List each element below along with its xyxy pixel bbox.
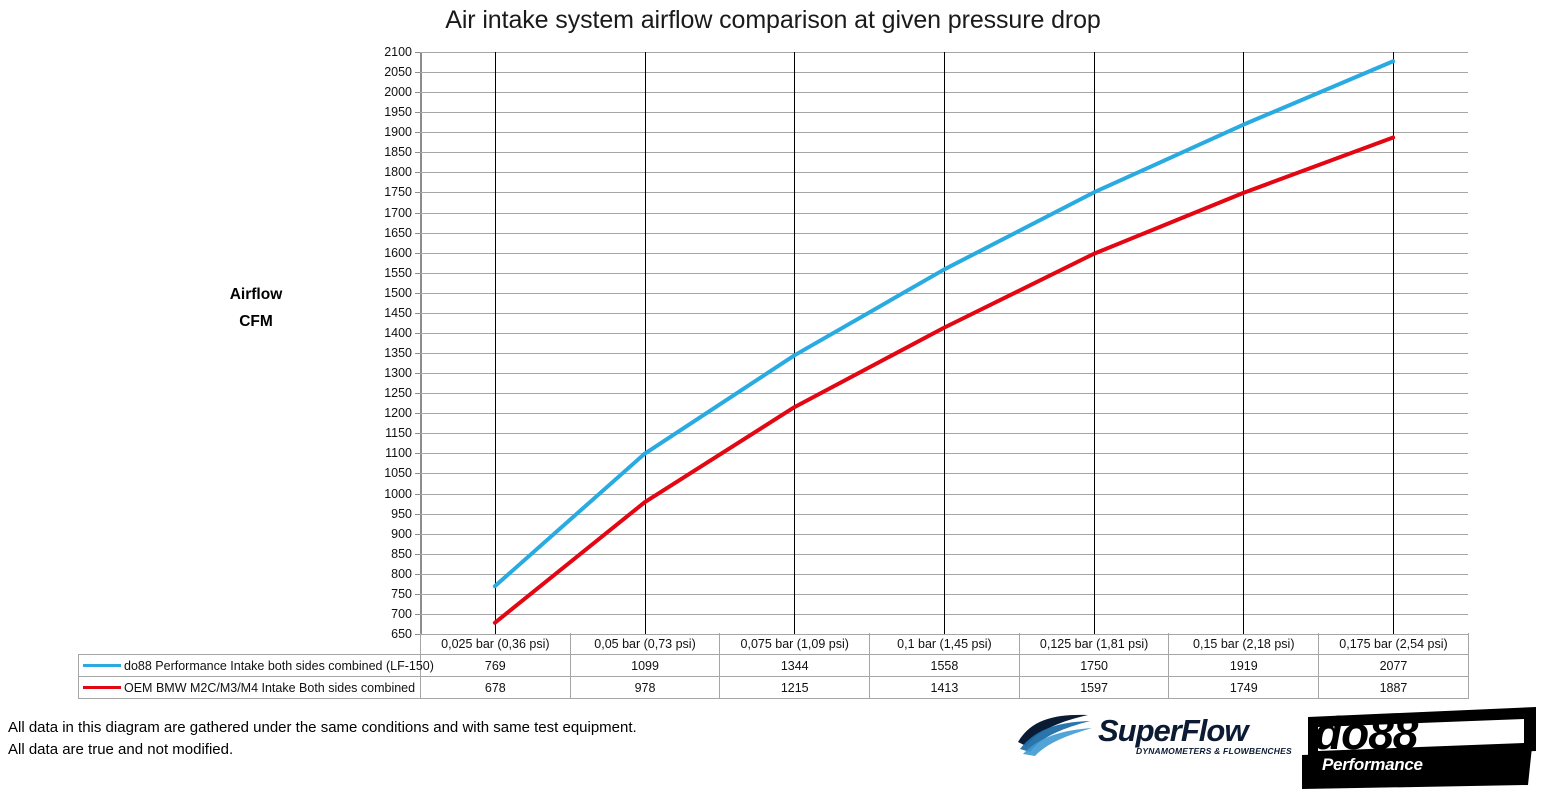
data-table: 0,025 bar (0,36 psi)0,05 bar (0,73 psi)0… bbox=[78, 633, 1469, 699]
x-axis-category-label: 0,175 bar (2,54 psi) bbox=[1319, 633, 1469, 655]
y-axis-tick-label: 1850 bbox=[364, 146, 412, 158]
x-axis-category-label: 0,05 bar (0,73 psi) bbox=[570, 633, 720, 655]
y-axis-labels: 2100205020001950190018501800175017001650… bbox=[362, 52, 412, 634]
y-axis-tick-label: 1550 bbox=[364, 267, 412, 279]
data-cell: 978 bbox=[570, 677, 720, 699]
y-axis-tick-label: 2050 bbox=[364, 66, 412, 78]
x-axis-category-label: 0,15 bar (2,18 psi) bbox=[1169, 633, 1319, 655]
x-axis-category-label: 0,125 bar (1,81 psi) bbox=[1019, 633, 1169, 655]
legend-entry: OEM BMW M2C/M3/M4 Intake Both sides comb… bbox=[79, 677, 421, 699]
y-axis-tick-label: 1900 bbox=[364, 126, 412, 138]
superflow-wordmark: SuperFlow bbox=[1098, 714, 1247, 747]
y-axis-tick-label: 1500 bbox=[364, 287, 412, 299]
data-cell: 1750 bbox=[1019, 655, 1169, 677]
y-axis-tick-label: 2000 bbox=[364, 86, 412, 98]
series-lines bbox=[420, 52, 1468, 634]
x-axis-category-label: 0,025 bar (0,36 psi) bbox=[421, 633, 571, 655]
y-axis-tick-label: 1400 bbox=[364, 327, 412, 339]
y-axis-title: Airflow CFM bbox=[190, 281, 322, 335]
legend-swatch-icon bbox=[83, 664, 121, 667]
y-axis-tick-label: 750 bbox=[364, 588, 412, 600]
y-axis-tick-label: 1150 bbox=[364, 427, 412, 439]
y-axis-tick-label: 1650 bbox=[364, 227, 412, 239]
y-axis-tick-label: 2100 bbox=[364, 46, 412, 58]
y-axis-title-line2: CFM bbox=[190, 308, 322, 335]
y-axis-tick-label: 1100 bbox=[364, 447, 412, 459]
data-cell: 1215 bbox=[720, 677, 870, 699]
data-cell: 1344 bbox=[720, 655, 870, 677]
y-axis-tick-label: 1350 bbox=[364, 347, 412, 359]
data-cell: 2077 bbox=[1319, 655, 1469, 677]
table-row: do88 Performance Intake both sides combi… bbox=[79, 655, 1469, 677]
y-axis-title-line1: Airflow bbox=[190, 281, 322, 308]
superflow-swoosh-icon bbox=[1014, 712, 1094, 758]
data-cell: 678 bbox=[421, 677, 571, 699]
data-cell: 769 bbox=[421, 655, 571, 677]
y-axis-tick-label: 1200 bbox=[364, 407, 412, 419]
y-axis-tick-label: 1700 bbox=[364, 207, 412, 219]
legend-swatch-icon bbox=[83, 686, 121, 689]
data-cell: 1749 bbox=[1169, 677, 1319, 699]
legend-entry: do88 Performance Intake both sides combi… bbox=[79, 655, 421, 677]
footer-note: All data in this diagram are gathered un… bbox=[8, 717, 637, 761]
y-axis-tick-label: 950 bbox=[364, 508, 412, 520]
superflow-tagline: DYNAMOMETERS & FLOWBENCHES bbox=[1136, 746, 1292, 756]
data-cell: 1887 bbox=[1319, 677, 1469, 699]
series-line-0 bbox=[495, 61, 1393, 586]
x-axis-category-label: 0,1 bar (1,45 psi) bbox=[870, 633, 1020, 655]
data-cell: 1597 bbox=[1019, 677, 1169, 699]
y-axis-tick-label: 1600 bbox=[364, 247, 412, 259]
plot-area bbox=[420, 52, 1468, 634]
y-axis-tick-label: 1050 bbox=[364, 467, 412, 479]
y-axis-tick-label: 1950 bbox=[364, 106, 412, 118]
data-cell: 1558 bbox=[870, 655, 1020, 677]
superflow-logo: SuperFlow DYNAMOMETERS & FLOWBENCHES bbox=[1014, 712, 1286, 760]
y-axis-tick-label: 1300 bbox=[364, 367, 412, 379]
do88-wordmark: do88 bbox=[1314, 709, 1417, 757]
table-corner-cell bbox=[79, 633, 421, 655]
y-axis-tick-label: 900 bbox=[364, 528, 412, 540]
data-cell: 1413 bbox=[870, 677, 1020, 699]
chart-title: Air intake system airflow comparison at … bbox=[0, 6, 1546, 35]
y-axis-tick-label: 1250 bbox=[364, 387, 412, 399]
legend-label: OEM BMW M2C/M3/M4 Intake Both sides comb… bbox=[124, 681, 415, 695]
do88-tagline: Performance bbox=[1322, 755, 1423, 774]
table-header-row: 0,025 bar (0,36 psi)0,05 bar (0,73 psi)0… bbox=[79, 633, 1469, 655]
y-axis-tick-label: 1800 bbox=[364, 166, 412, 178]
data-cell: 1919 bbox=[1169, 655, 1319, 677]
y-axis-tick-label: 1000 bbox=[364, 488, 412, 500]
y-axis-tick-label: 700 bbox=[364, 608, 412, 620]
y-axis-tick-label: 850 bbox=[364, 548, 412, 560]
series-line-1 bbox=[495, 137, 1393, 622]
y-axis-tick-label: 1450 bbox=[364, 307, 412, 319]
legend-label: do88 Performance Intake both sides combi… bbox=[124, 659, 434, 673]
do88-logo: do88 Performance bbox=[1300, 705, 1538, 791]
data-cell: 1099 bbox=[570, 655, 720, 677]
x-axis-category-label: 0,075 bar (1,09 psi) bbox=[720, 633, 870, 655]
table-row: OEM BMW M2C/M3/M4 Intake Both sides comb… bbox=[79, 677, 1469, 699]
y-axis-tick-label: 1750 bbox=[364, 186, 412, 198]
y-axis-tick-label: 800 bbox=[364, 568, 412, 580]
